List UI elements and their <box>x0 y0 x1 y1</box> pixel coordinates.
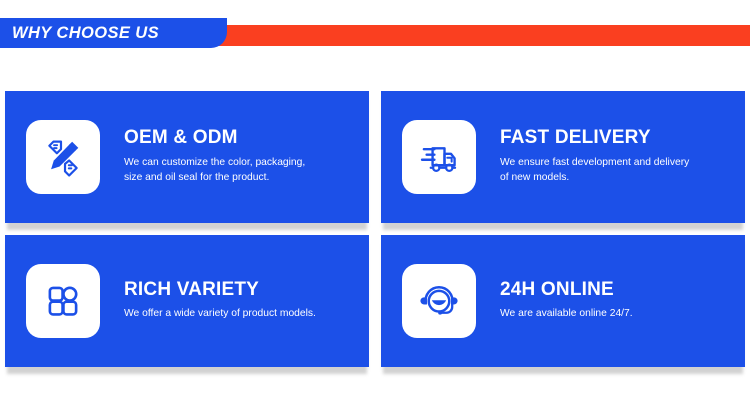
card-title: OEM & ODM <box>124 128 324 149</box>
card-description: We offer a wide variety of product model… <box>124 307 316 322</box>
card-title: 24H ONLINE <box>500 280 633 301</box>
card-body: 24H ONLINE We are available online 24/7. <box>381 235 745 367</box>
header-title-tab: WHY CHOOSE US <box>0 18 227 48</box>
card-title: FAST DELIVERY <box>500 128 700 149</box>
card-description: We ensure fast development and delivery … <box>500 156 700 186</box>
feature-card-grid: OEM & ODM We can customize the color, pa… <box>5 91 745 379</box>
card-text-block: FAST DELIVERY We ensure fast development… <box>476 128 712 186</box>
feature-card-fast-delivery[interactable]: FAST DELIVERY We ensure fast development… <box>381 91 745 223</box>
headset-smile-icon <box>402 264 476 338</box>
card-body: OEM & ODM We can customize the color, pa… <box>5 91 369 223</box>
card-description: We can customize the color, packaging, s… <box>124 156 324 186</box>
feature-card-row-bottom: RICH VARIETY We offer a wide variety of … <box>5 235 745 367</box>
delivery-truck-icon <box>402 120 476 194</box>
feature-card-oem-odm[interactable]: OEM & ODM We can customize the color, pa… <box>5 91 369 223</box>
card-body: FAST DELIVERY We ensure fast development… <box>381 91 745 223</box>
page-title: WHY CHOOSE US <box>0 25 159 42</box>
grid-shapes-icon <box>26 264 100 338</box>
card-text-block: RICH VARIETY We offer a wide variety of … <box>100 280 328 323</box>
card-text-block: OEM & ODM We can customize the color, pa… <box>100 128 336 186</box>
feature-card-row-top: OEM & ODM We can customize the color, pa… <box>5 91 745 223</box>
card-text-block: 24H ONLINE We are available online 24/7. <box>476 280 645 323</box>
page-header: WHY CHOOSE US <box>0 0 750 70</box>
pencil-ruler-icon <box>26 120 100 194</box>
feature-card-rich-variety[interactable]: RICH VARIETY We offer a wide variety of … <box>5 235 369 367</box>
card-title: RICH VARIETY <box>124 280 316 301</box>
card-description: We are available online 24/7. <box>500 307 633 322</box>
card-body: RICH VARIETY We offer a wide variety of … <box>5 235 369 367</box>
feature-card-24h-online[interactable]: 24H ONLINE We are available online 24/7. <box>381 235 745 367</box>
